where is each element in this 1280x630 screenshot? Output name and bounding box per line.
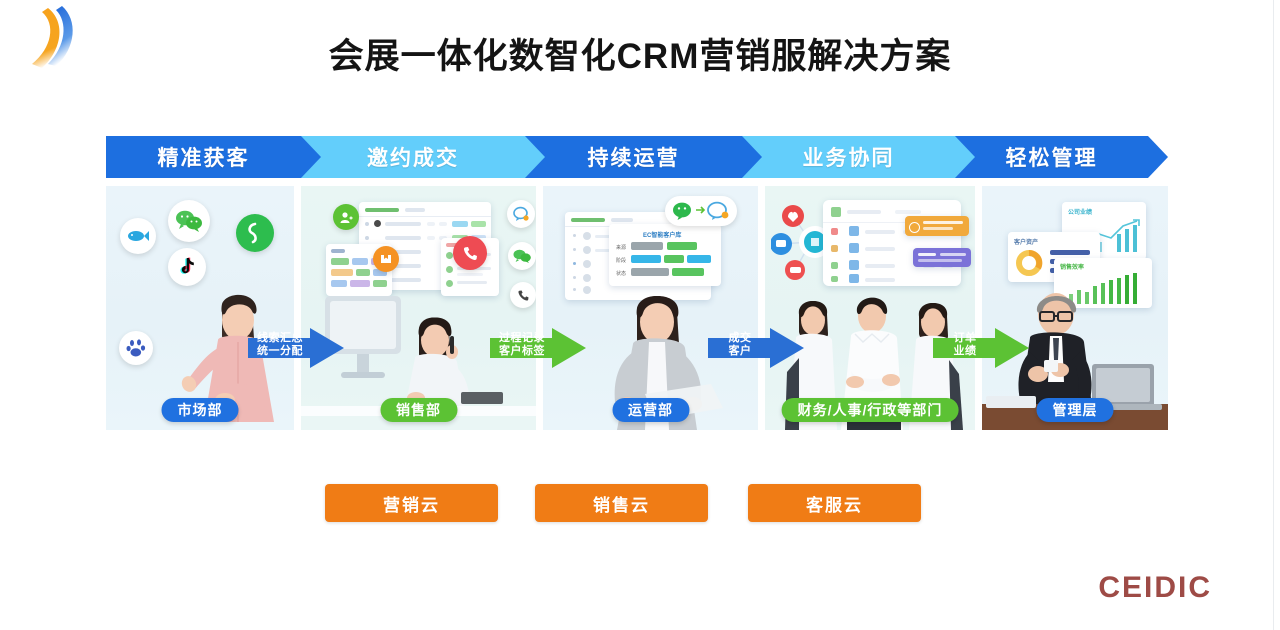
contact-green-icon [333,204,359,230]
stage-label-5: 轻松管理 [1006,142,1098,172]
dept-badge-collaboration: 财务/人事/行政等部门 [782,398,959,422]
connector-1-line2: 统一分配 [254,345,306,358]
dept-badge-operations: 运营部 [612,398,689,422]
panel-collaboration: 财务/人事/行政等部门 [765,186,975,430]
panel-sales: 销售部 [301,186,536,430]
connector-3-line1: 成交 [714,332,766,345]
dashboard-title-assets: 客户资产 [1014,237,1038,246]
connector-4-text: 订单 业绩 [939,332,991,358]
workflow-panels: 市场部 [106,186,1168,430]
cloud-button-service[interactable]: 客服云 [748,484,921,522]
stage-chevron-2: 邀约成交 [301,136,525,178]
panel-divider-2 [536,186,543,430]
ec-customer-library-card: EC智能客户库 来源 阶段 状态 [609,224,721,286]
dashboard-title-efficiency: 销售效率 [1060,262,1084,271]
ec-row-label-3: 状态 [616,270,626,277]
panel-operations: EC智能客户库 来源 阶段 状态 [543,186,758,430]
stage-label-4: 业务协同 [803,142,895,172]
connector-4-line2: 业绩 [939,345,991,358]
cloud-button-sales[interactable]: 销售云 [535,484,708,522]
panel-divider-1 [294,186,301,430]
panel-divider-3 [758,186,765,430]
connector-2-line1: 过程记录 [496,332,548,345]
stage-chevron-1: 精准获客 [106,136,301,178]
call-red-icon [453,236,487,270]
baidu-icon [119,331,153,365]
connector-1: 线索汇总 统一分配 [248,322,344,374]
page-title: 会展一体化数智化CRM营销服解决方案 [0,28,1280,79]
brand-wordmark: CEIDIC [1098,571,1212,605]
dept-badge-marketing: 市场部 [162,398,239,422]
panel-divider-4 [975,186,982,430]
chat-bubble-icon [507,200,535,228]
dept-badge-sales: 销售部 [380,398,457,422]
connector-4: 订单 业绩 [933,322,1029,374]
connector-2-text: 过程记录 客户标签 [496,332,548,358]
connector-2: 过程记录 客户标签 [490,322,586,374]
stage-banner: 精准获客 邀约成交 持续运营 业务协同 轻松管理 [106,136,1168,178]
ec-row-label-1: 来源 [616,244,626,251]
ec-row-label-2: 阶段 [616,257,626,264]
douyin-icon [168,248,206,286]
folder-orange-icon [373,246,399,272]
wechat-icon [508,242,536,270]
stage-label-2: 邀约成交 [367,142,459,172]
wechat-icon [168,200,210,242]
dashboard-title-performance: 公司业绩 [1068,207,1092,216]
slide-canvas: 会展一体化数智化CRM营销服解决方案 精准获客 邀约成交 持续运营 业务协同 轻… [0,0,1280,630]
connector-3-text: 成交 客户 [714,332,766,358]
panel-management: 公司业绩 客户资产 [982,186,1168,430]
stage-chevron-4: 业务协同 [742,136,955,178]
connector-2-line2: 客户标签 [496,345,548,358]
connector-4-line1: 订单 [939,332,991,345]
dept-badge-management: 管理层 [1037,398,1114,422]
task-alert-card-purple [913,248,971,267]
wechat-channels-icon [236,214,274,252]
cloud-product-buttons: 营销云 销售云 客服云 [0,484,1280,522]
ec-card-title: EC智能客户库 [643,230,681,239]
stage-chevron-3: 持续运营 [525,136,742,178]
stage-chevron-5: 轻松管理 [955,136,1148,178]
stage-label-1: 精准获客 [158,142,250,172]
wechat-sync-cloud [665,196,737,226]
panel-marketing: 市场部 [106,186,294,430]
task-alert-card-orange [905,216,969,236]
stage-label-3: 持续运营 [588,142,680,172]
connector-1-line1: 线索汇总 [254,332,306,345]
connector-1-text: 线索汇总 统一分配 [254,332,306,358]
collaboration-window [823,200,961,286]
slide-right-edge [1273,0,1280,630]
connector-3: 成交 客户 [708,322,804,374]
cloud-button-marketing[interactable]: 营销云 [325,484,498,522]
xianyu-icon [120,218,156,254]
connector-3-line2: 客户 [714,345,766,358]
